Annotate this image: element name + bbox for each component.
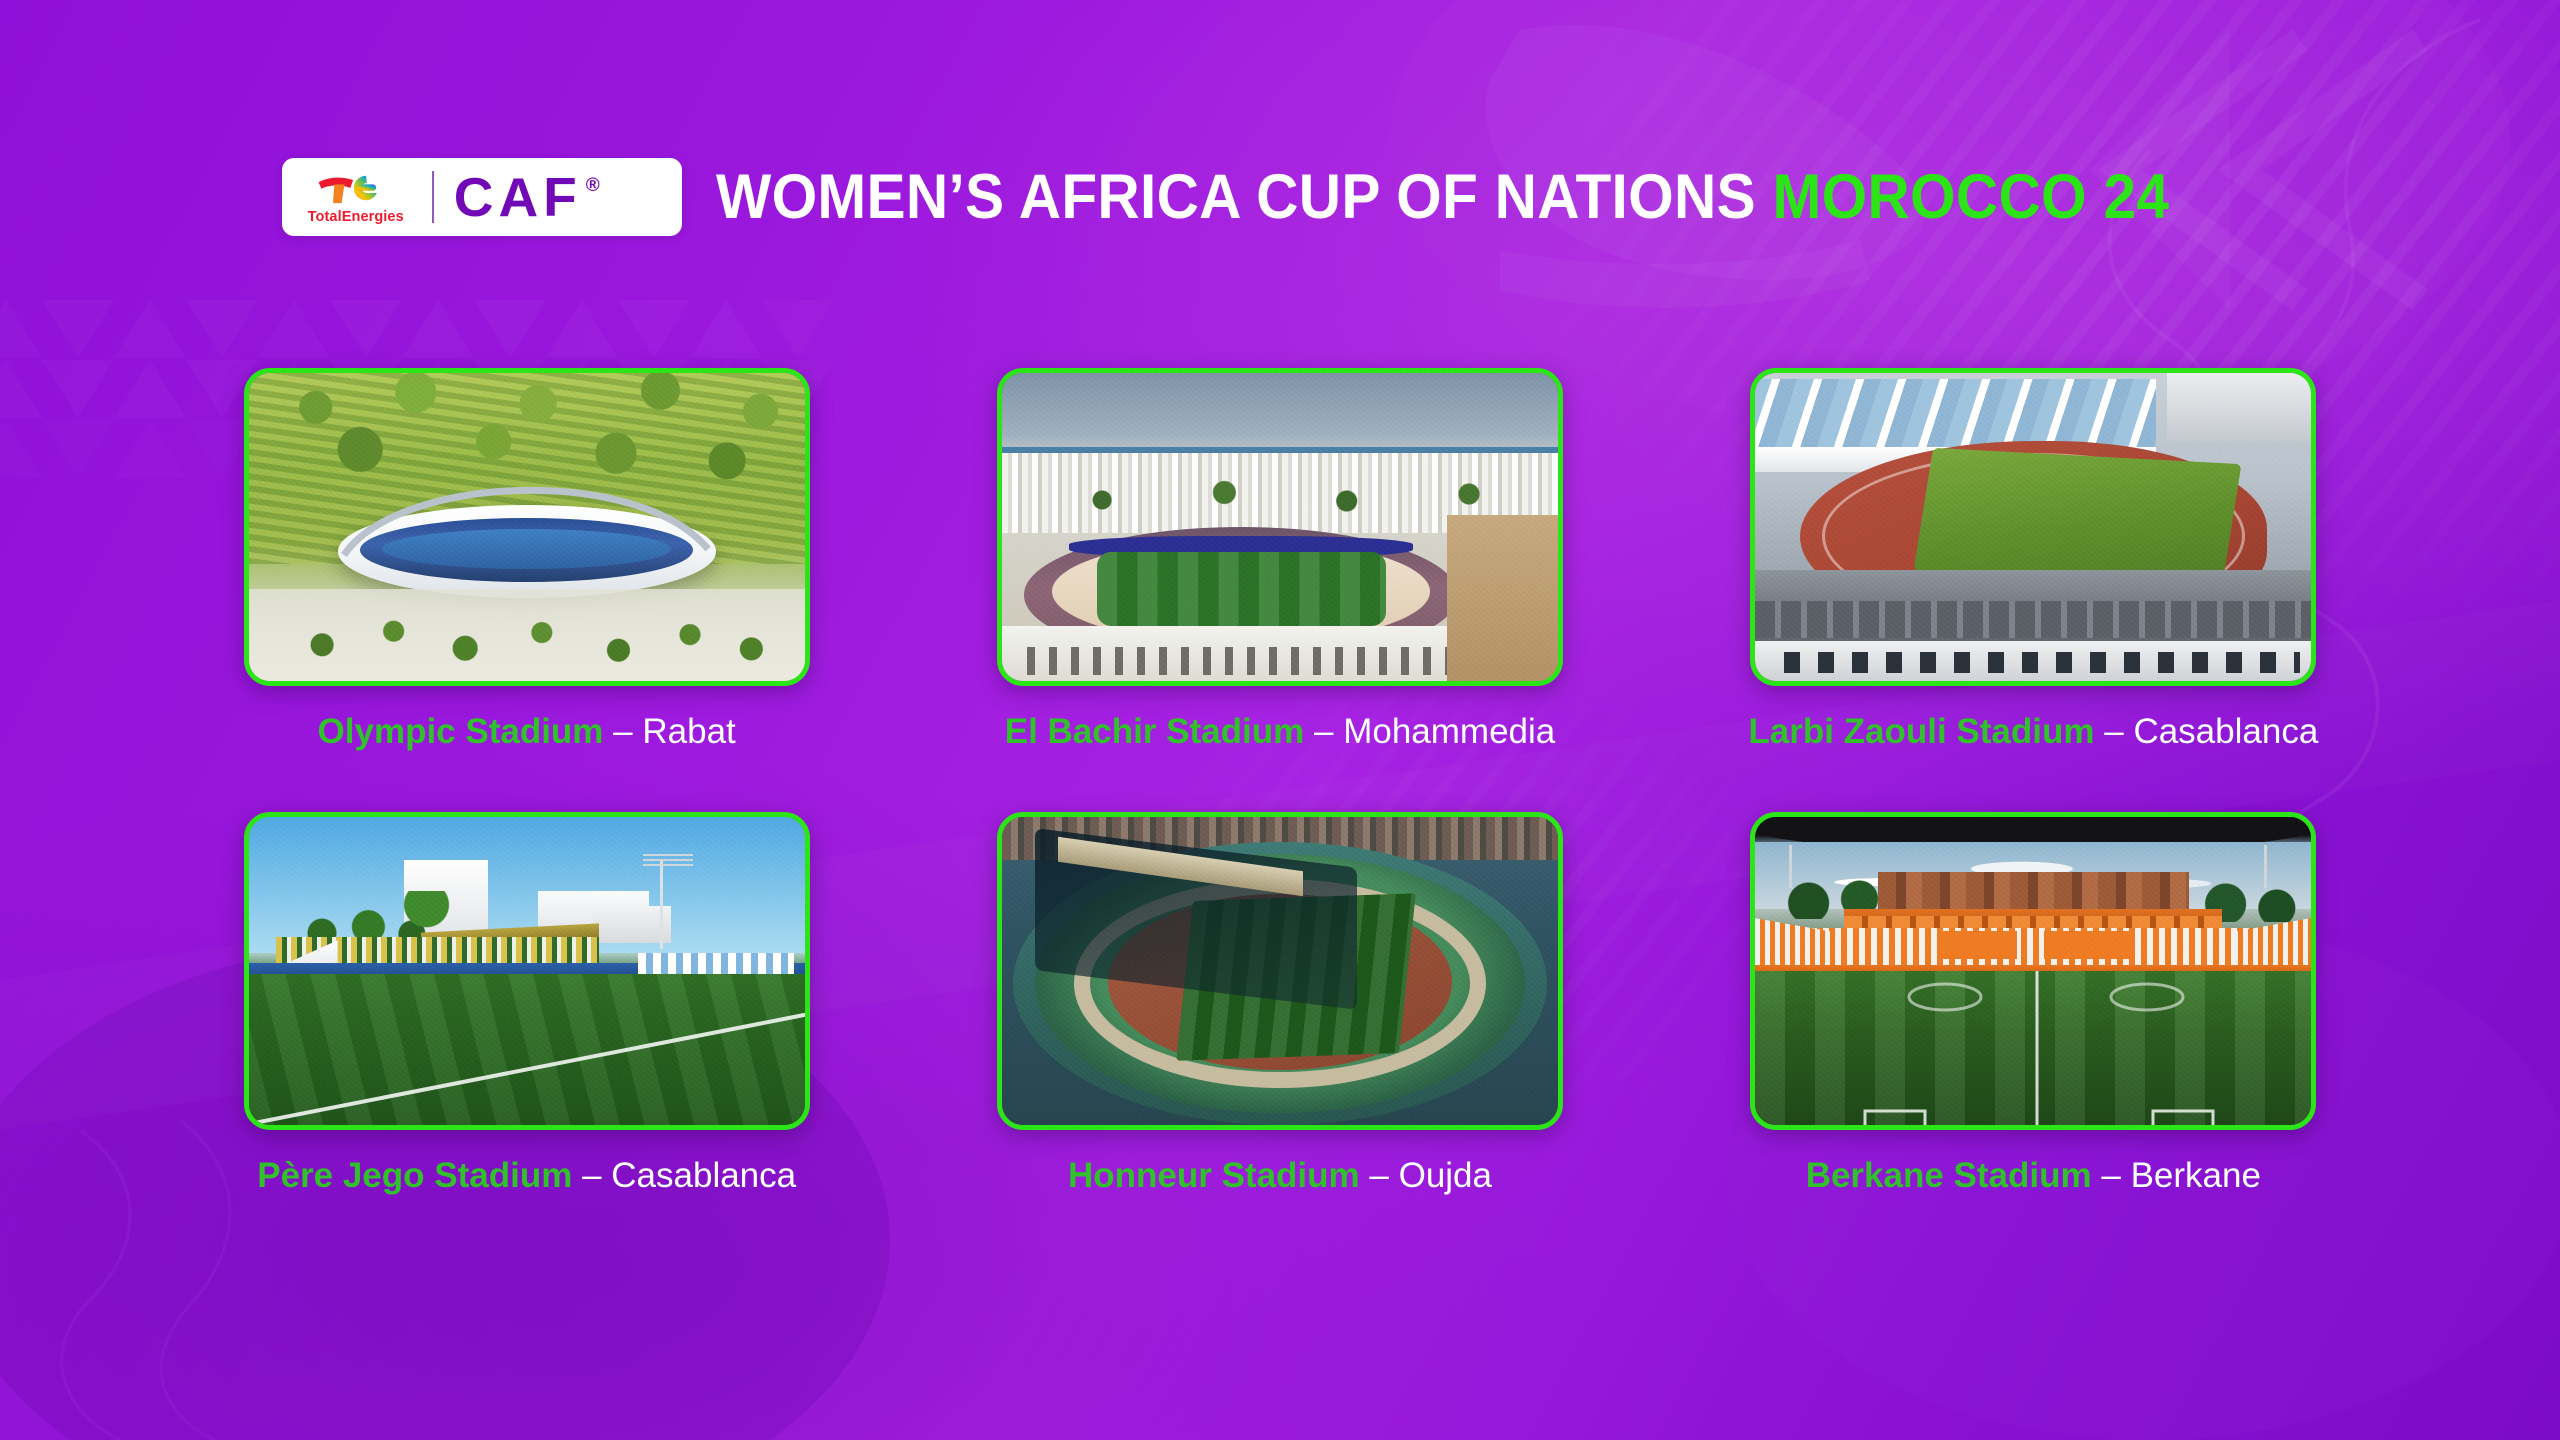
pere-jego-stadium-casablanca-image <box>249 817 805 1125</box>
venue-name: Honneur Stadium <box>1068 1156 1360 1195</box>
venue-photo <box>997 812 1563 1130</box>
venue-caption: Honneur Stadium – Oujda <box>1068 1156 1492 1196</box>
venue-separator: – <box>582 1156 601 1195</box>
venue-photo <box>1750 812 2316 1130</box>
berkane-stadium-berkane-image <box>1755 817 2311 1125</box>
venue-caption: Olympic Stadium – Rabat <box>318 712 736 752</box>
poster-canvas: TotalEnergies CAF ® WOMEN’S AFRICA CUP O… <box>0 0 2560 1440</box>
venue-name: El Bachir Stadium <box>1005 712 1305 751</box>
page-title: WOMEN’S AFRICA CUP OF NATIONS MOROCCO 24 <box>716 166 2169 229</box>
venue-photo <box>997 368 1563 686</box>
title-competition: WOMEN’S AFRICA CUP OF NATIONS <box>716 162 1756 232</box>
larbi-zaouli-stadium-casablanca-image <box>1755 373 2311 681</box>
triangle-pattern-row <box>0 300 834 358</box>
venue-card[interactable]: Berkane Stadium – Berkane <box>1657 812 2410 1196</box>
venue-name: Olympic Stadium <box>318 712 604 751</box>
venue-separator: – <box>2101 1156 2120 1195</box>
caf-totalenergies-logo: TotalEnergies CAF ® <box>282 158 682 236</box>
caf-wordmark: CAF <box>454 171 582 223</box>
totalenergies-mark-icon <box>312 170 400 206</box>
venue-name: Père Jego Stadium <box>257 1156 572 1195</box>
venue-separator: – <box>1314 712 1333 751</box>
poster-header: TotalEnergies CAF ® WOMEN’S AFRICA CUP O… <box>0 158 2560 236</box>
venue-card[interactable]: Olympic Stadium – Rabat <box>150 368 903 752</box>
venue-card[interactable]: Père Jego Stadium – Casablanca <box>150 812 903 1196</box>
venue-city: Mohammedia <box>1343 712 1555 751</box>
venue-separator: – <box>1369 1156 1388 1195</box>
logo-divider <box>432 171 434 223</box>
totalenergies-wordmark: TotalEnergies <box>308 209 404 225</box>
olympic-stadium-rabat-image <box>249 373 805 681</box>
venue-city: Casablanca <box>611 1156 796 1195</box>
venue-city: Berkane <box>2131 1156 2261 1195</box>
venue-card[interactable]: Honneur Stadium – Oujda <box>903 812 1656 1196</box>
venue-photo <box>244 812 810 1130</box>
venue-photo <box>1750 368 2316 686</box>
venue-separator: – <box>613 712 632 751</box>
venue-photo <box>244 368 810 686</box>
honneur-stadium-oujda-image <box>1002 817 1558 1125</box>
venue-card[interactable]: El Bachir Stadium – Mohammedia <box>903 368 1656 752</box>
registered-trademark-icon: ® <box>586 175 600 197</box>
caf-logo: CAF ® <box>454 171 600 223</box>
el-bachir-stadium-mohammedia-image <box>1002 373 1558 681</box>
venue-separator: – <box>2104 712 2123 751</box>
venue-card[interactable]: Larbi Zaouli Stadium – Casablanca <box>1657 368 2410 752</box>
venue-caption: Père Jego Stadium – Casablanca <box>257 1156 796 1196</box>
venue-city: Casablanca <box>2133 712 2318 751</box>
venue-city: Rabat <box>642 712 735 751</box>
venue-name: Berkane Stadium <box>1806 1156 2092 1195</box>
venue-city: Oujda <box>1399 1156 1492 1195</box>
venue-caption: Berkane Stadium – Berkane <box>1806 1156 2261 1196</box>
venue-name: Larbi Zaouli Stadium <box>1748 712 2094 751</box>
venue-grid: Olympic Stadium – Rabat <box>0 368 2560 1196</box>
totalenergies-logo: TotalEnergies <box>300 170 412 225</box>
title-edition: MOROCCO 24 <box>1772 162 2169 232</box>
venue-caption: El Bachir Stadium – Mohammedia <box>1005 712 1556 752</box>
venue-caption: Larbi Zaouli Stadium – Casablanca <box>1748 712 2318 752</box>
